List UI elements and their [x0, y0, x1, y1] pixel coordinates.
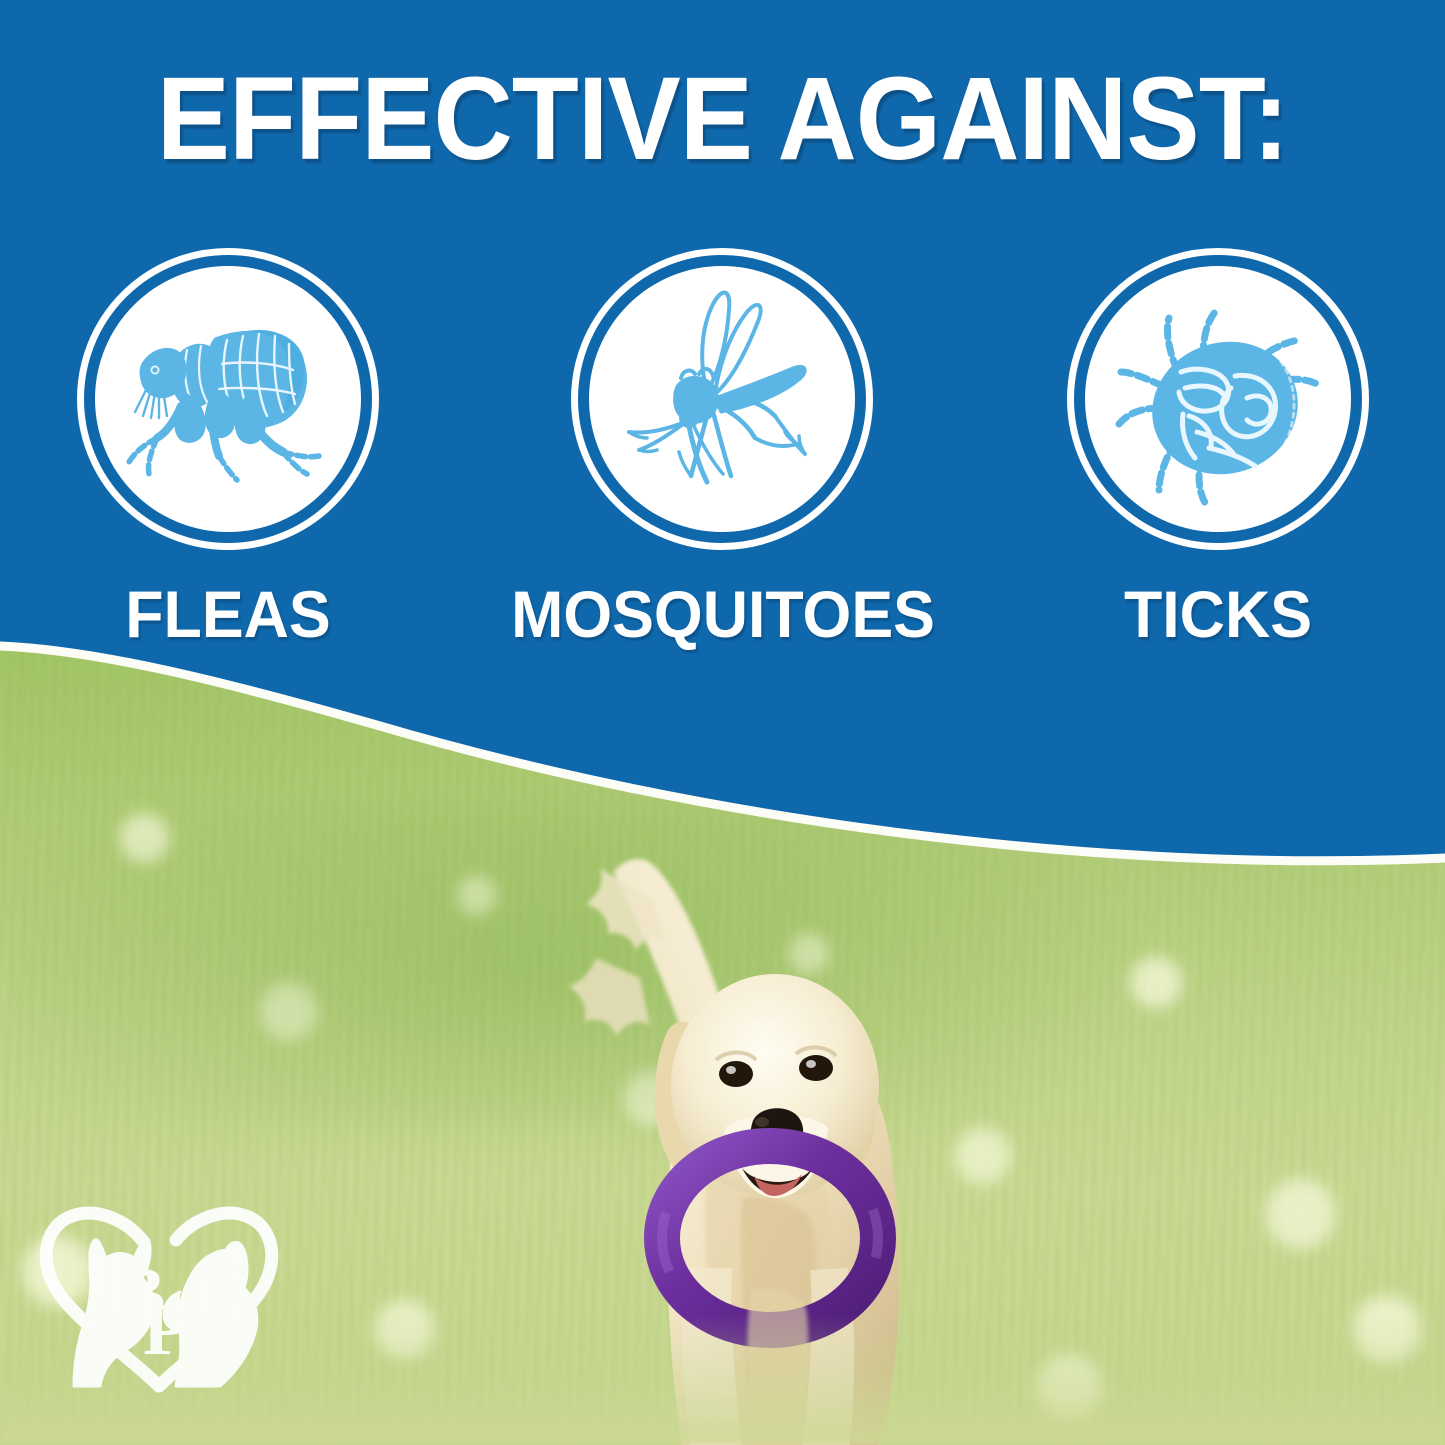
- pest-label-row: FLEAS MOSQUITOES TICKS: [0, 578, 1445, 658]
- pest-label-mosquitoes: MOSQUITOES: [511, 578, 933, 650]
- pest-label-fleas: FLEAS: [85, 578, 372, 650]
- pest-badge-ticks: [1067, 248, 1369, 550]
- mosquito-icon: [589, 266, 855, 532]
- pest-badge-mosquitoes: [571, 248, 873, 550]
- brand-logo: B P: [30, 1196, 288, 1396]
- tick-icon: [1085, 266, 1351, 532]
- page-title: EFFECTIVE AGAINST:: [51, 60, 1395, 178]
- pest-icon-row: [0, 248, 1445, 560]
- pest-badge-fleas: [77, 248, 379, 550]
- flea-icon: [95, 266, 361, 532]
- logo-monogram-p: P: [143, 1289, 188, 1371]
- pest-label-ticks: TICKS: [1075, 578, 1362, 650]
- product-marketing-image: EFFECTIVE AGAINST:: [0, 0, 1445, 1445]
